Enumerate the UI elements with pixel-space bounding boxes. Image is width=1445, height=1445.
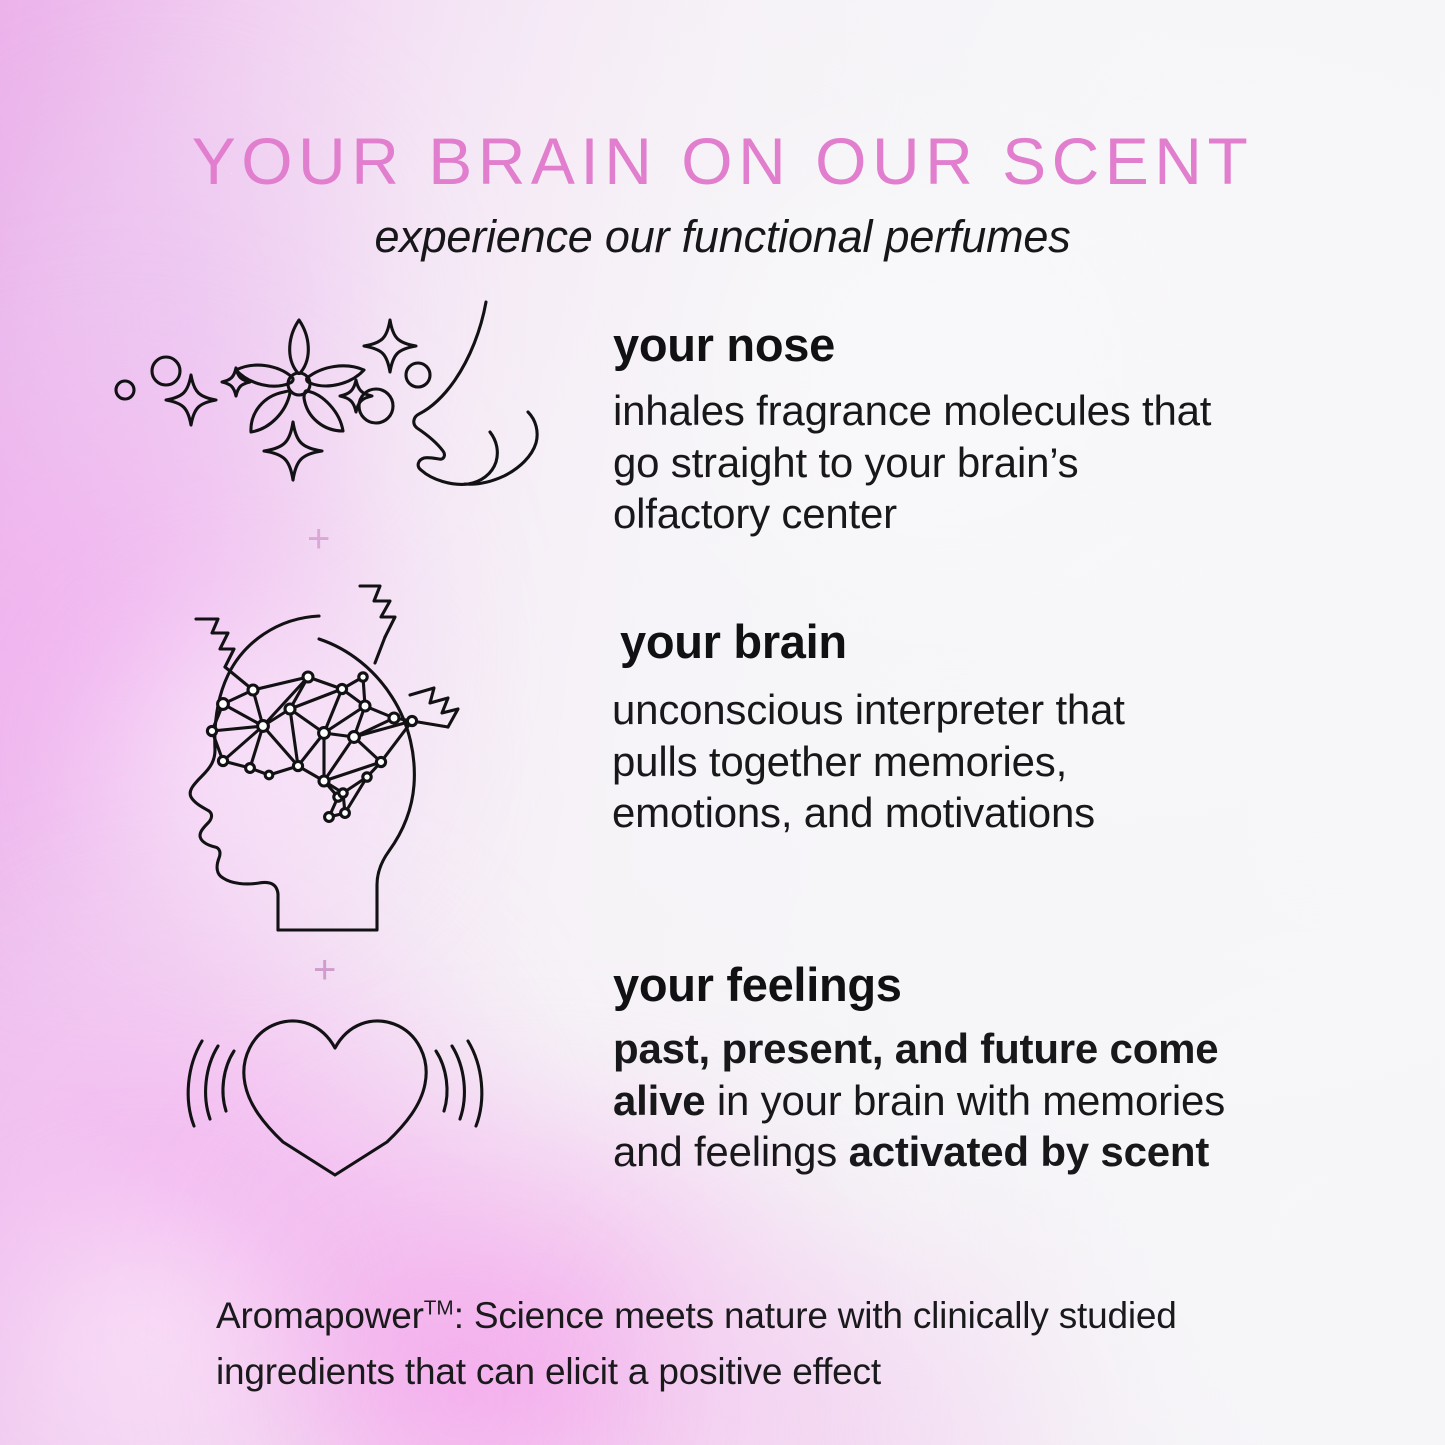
emphasis-activated-by-scent: activated by scent bbox=[849, 1128, 1210, 1175]
step-feelings-text: your feelings past, present, and future … bbox=[613, 960, 1373, 1178]
step-brain-body: unconscious interpreter that pulls toget… bbox=[612, 684, 1320, 838]
step-feelings-body-line-2: alive in your brain with memories bbox=[613, 1075, 1373, 1126]
step-brain-heading: your brain bbox=[620, 617, 1320, 666]
step-brain-body-line-1: unconscious interpreter that bbox=[612, 684, 1320, 735]
separator-plus-2: + bbox=[313, 950, 336, 990]
step-nose-body-line-1: inhales fragrance molecules that bbox=[613, 385, 1353, 436]
head-brain-network-icon bbox=[182, 585, 502, 930]
step-brain-body-line-3: emotions, and motivations bbox=[612, 787, 1320, 838]
page-title: YOUR BRAIN ON OUR SCENT bbox=[0, 128, 1445, 194]
heart-vibration-icon bbox=[190, 1012, 480, 1177]
step-brain-body-line-2: pulls together memories, bbox=[612, 736, 1320, 787]
step-nose-heading: your nose bbox=[613, 320, 1353, 369]
step-feelings-body-line-1: past, present, and future come bbox=[613, 1023, 1373, 1074]
step-brain-text: your brain unconscious interpreter that … bbox=[620, 617, 1320, 839]
footer-brand: Aromapower bbox=[216, 1295, 424, 1336]
step-feelings-body-line-3-lead: and feelings bbox=[613, 1128, 849, 1175]
footer-note: AromapowerTM: Science meets nature with … bbox=[216, 1288, 1316, 1400]
step-feelings-body-line-2-rest: in your brain with memories bbox=[705, 1077, 1225, 1124]
step-nose-text: your nose inhales fragrance molecules th… bbox=[613, 320, 1353, 540]
trademark-symbol: TM bbox=[424, 1297, 454, 1320]
step-nose-body-line-2: go straight to your brain’s bbox=[613, 437, 1353, 488]
page-subtitle: experience our functional perfumes bbox=[0, 210, 1445, 264]
step-nose-body: inhales fragrance molecules that go stra… bbox=[613, 385, 1353, 539]
step-feelings-body-line-3: and feelings activated by scent bbox=[613, 1126, 1373, 1177]
step-feelings-body: past, present, and future come alive in … bbox=[613, 1023, 1373, 1177]
step-feelings-heading: your feelings bbox=[613, 960, 1373, 1009]
emphasis-alive: alive bbox=[613, 1077, 705, 1124]
flower-sparkles-nose-icon bbox=[108, 300, 578, 500]
emphasis-past-present-future: past, present, and future come bbox=[613, 1025, 1218, 1072]
separator-plus-1: + bbox=[307, 519, 330, 559]
step-nose-body-line-3: olfactory center bbox=[613, 488, 1353, 539]
